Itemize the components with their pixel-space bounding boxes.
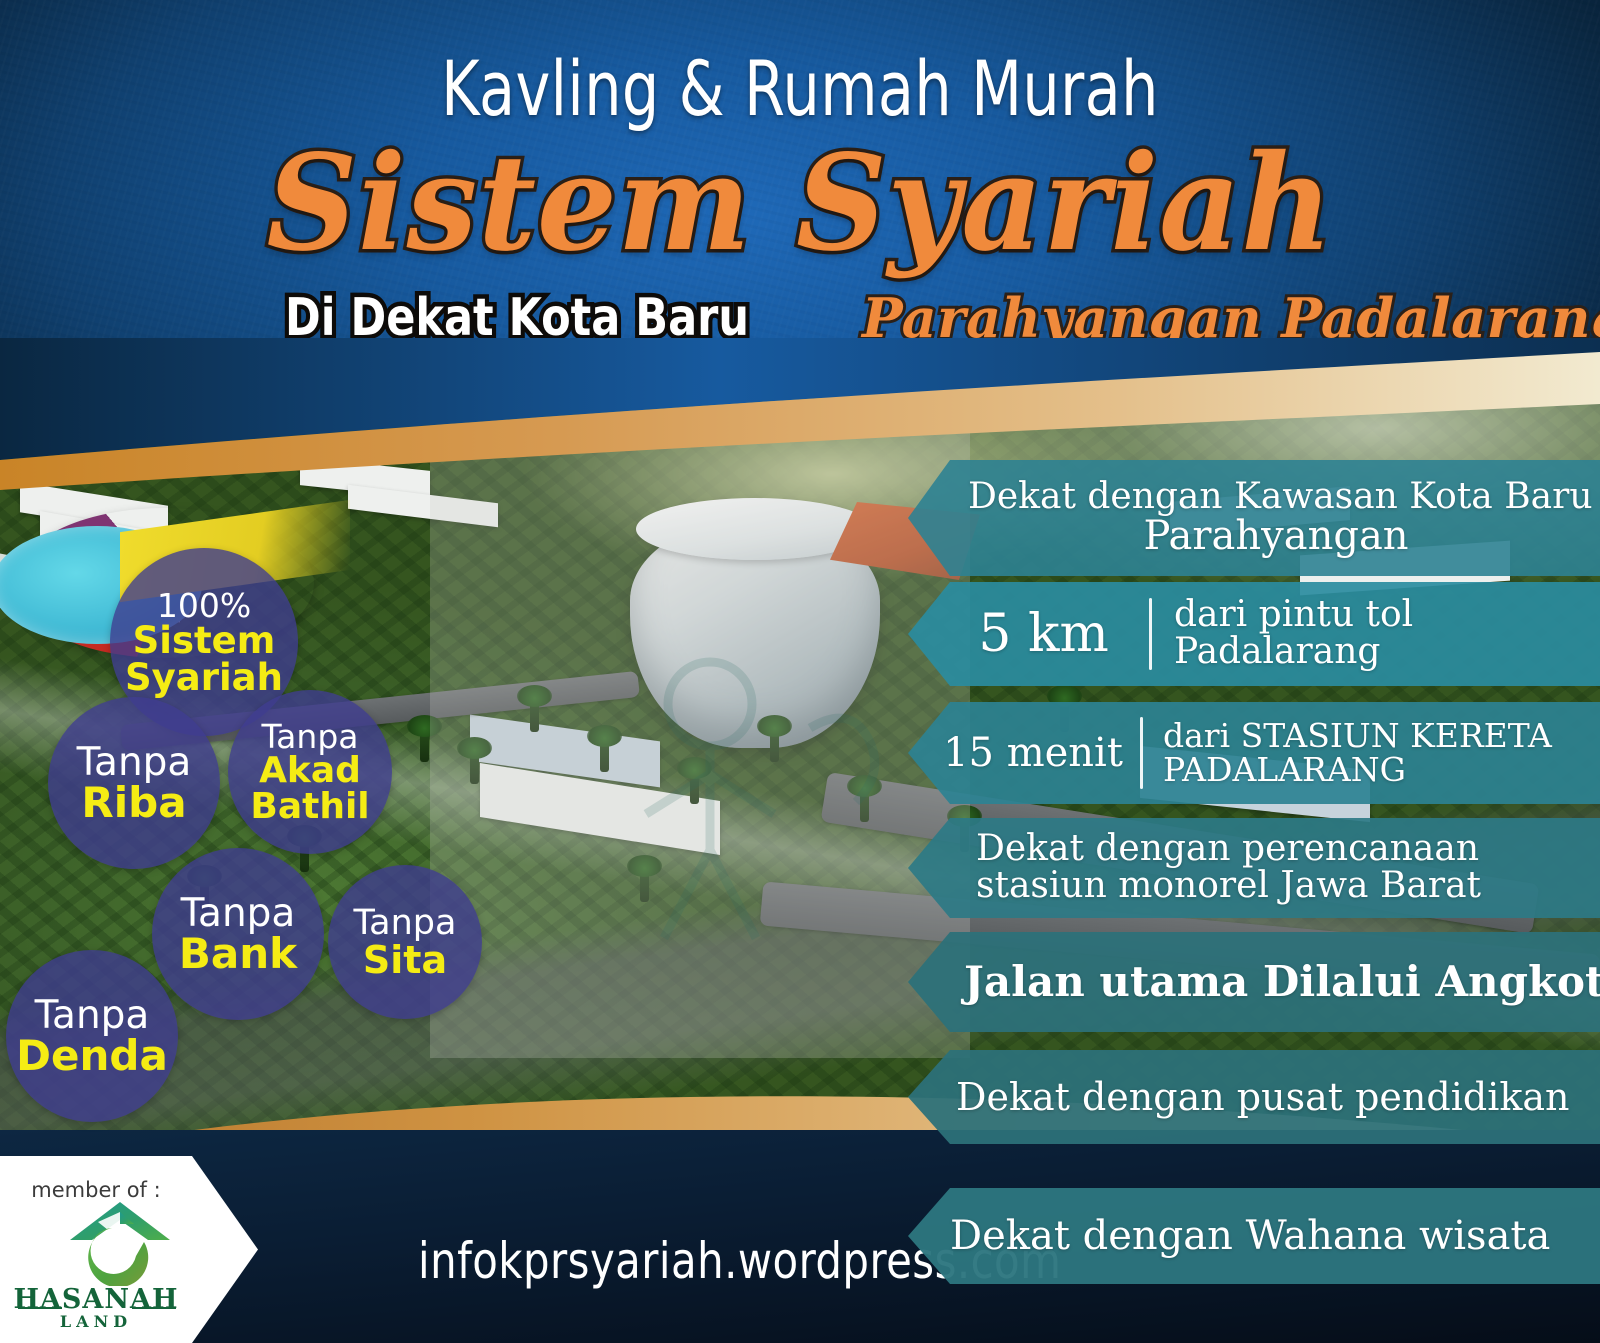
banner-jarak-tol[interactable]: 5 km dari pintu tol Padalarang xyxy=(908,582,1600,686)
banner-stat: 15 menit xyxy=(934,730,1132,776)
headline-primary: Kavling & Rumah Murah xyxy=(112,44,1488,133)
badge-line-2: Sistem xyxy=(133,622,276,659)
banner-line-1: Dekat dengan pusat pendidikan xyxy=(956,1078,1570,1117)
headline-subtitle: Di Dekat Kota Baru xyxy=(285,288,749,348)
banner-line-1: Dekat dengan perencanaan xyxy=(976,831,1479,868)
banner-wahana-wisata[interactable]: Dekat dengan Wahana wisata xyxy=(908,1188,1600,1284)
title-block: Kavling & Rumah Murah Sistem Syariah Di … xyxy=(0,0,1600,400)
banner-separator xyxy=(1140,717,1143,789)
banner-waktu-stasiun[interactable]: 15 menit dari STASIUN KERETA PADALARANG xyxy=(908,702,1600,804)
badge-tanpa-denda[interactable]: Tanpa Denda xyxy=(6,950,178,1122)
hasanah-house-arrow-icon xyxy=(62,1198,178,1286)
badge-tanpa-akad-bathil[interactable]: Tanpa Akad Bathil xyxy=(228,690,392,854)
badge-line-1: 100% xyxy=(157,589,251,622)
banner-separator xyxy=(1149,598,1152,670)
badge-line-2: Riba xyxy=(81,782,186,824)
badge-line-2: Akad xyxy=(259,753,361,789)
banner-desc-group: dari STASIUN KERETA PADALARANG xyxy=(1163,719,1552,786)
badge-line-2: Sita xyxy=(363,941,447,979)
badge-line-3: Syariah xyxy=(125,659,283,696)
headline-location: Parahyangan Padalarang xyxy=(862,286,1600,350)
badge-line-1: Tanpa xyxy=(354,906,457,941)
badge-tanpa-riba[interactable]: Tanpa Riba xyxy=(48,697,220,869)
watermark-graphic xyxy=(560,608,940,968)
hasanah-sub-wordmark: LAND xyxy=(0,1312,192,1331)
hasanah-wordmark: HASANAH xyxy=(0,1284,192,1315)
banner-desc: dari pintu tol Padalarang xyxy=(1174,597,1600,670)
badge-line-1: Tanpa xyxy=(261,720,358,753)
palm-tree xyxy=(420,728,429,762)
badge-line-1: Tanpa xyxy=(181,894,296,933)
badge-line-1: Tanpa xyxy=(77,743,192,782)
banner-desc-line-1: dari STASIUN KERETA xyxy=(1163,719,1552,753)
banner-line-1: Jalan utama Dilalui Angkot xyxy=(964,961,1600,1004)
badge-tanpa-sita[interactable]: Tanpa Sita xyxy=(328,865,482,1019)
badge-line-2: Denda xyxy=(16,1035,168,1077)
banner-stasiun-monorel[interactable]: Dekat dengan perencanaan stasiun monorel… xyxy=(908,818,1600,918)
banner-line-2: Parahyangan xyxy=(1143,516,1432,557)
badge-line-2: Bank xyxy=(179,933,297,975)
badge-tanpa-bank[interactable]: Tanpa Bank xyxy=(152,848,324,1020)
headline-script: Sistem Syariah xyxy=(40,126,1560,281)
banner-desc-line-2: PADALARANG xyxy=(1163,753,1552,787)
banner-line-1: Dekat dengan Kawasan Kota Baru xyxy=(968,479,1593,516)
banner-pusat-pendidikan[interactable]: Dekat dengan pusat pendidikan xyxy=(908,1050,1600,1144)
banner-line-2: stasiun monorel Jawa Barat xyxy=(976,868,1481,905)
banner-stat: 5 km xyxy=(960,604,1127,664)
banner-line-1: Dekat dengan Wahana wisata xyxy=(950,1216,1550,1257)
infographic-poster: Kavling & Rumah Murah Sistem Syariah Di … xyxy=(0,0,1600,1343)
badge-line-3: Bathil xyxy=(250,789,369,825)
banner-jalan-angkot[interactable]: Jalan utama Dilalui Angkot xyxy=(908,932,1600,1032)
badge-line-1: Tanpa xyxy=(35,996,150,1035)
banner-kawasan-kota-baru[interactable]: Dekat dengan Kawasan Kota Baru Parahyang… xyxy=(908,460,1600,576)
